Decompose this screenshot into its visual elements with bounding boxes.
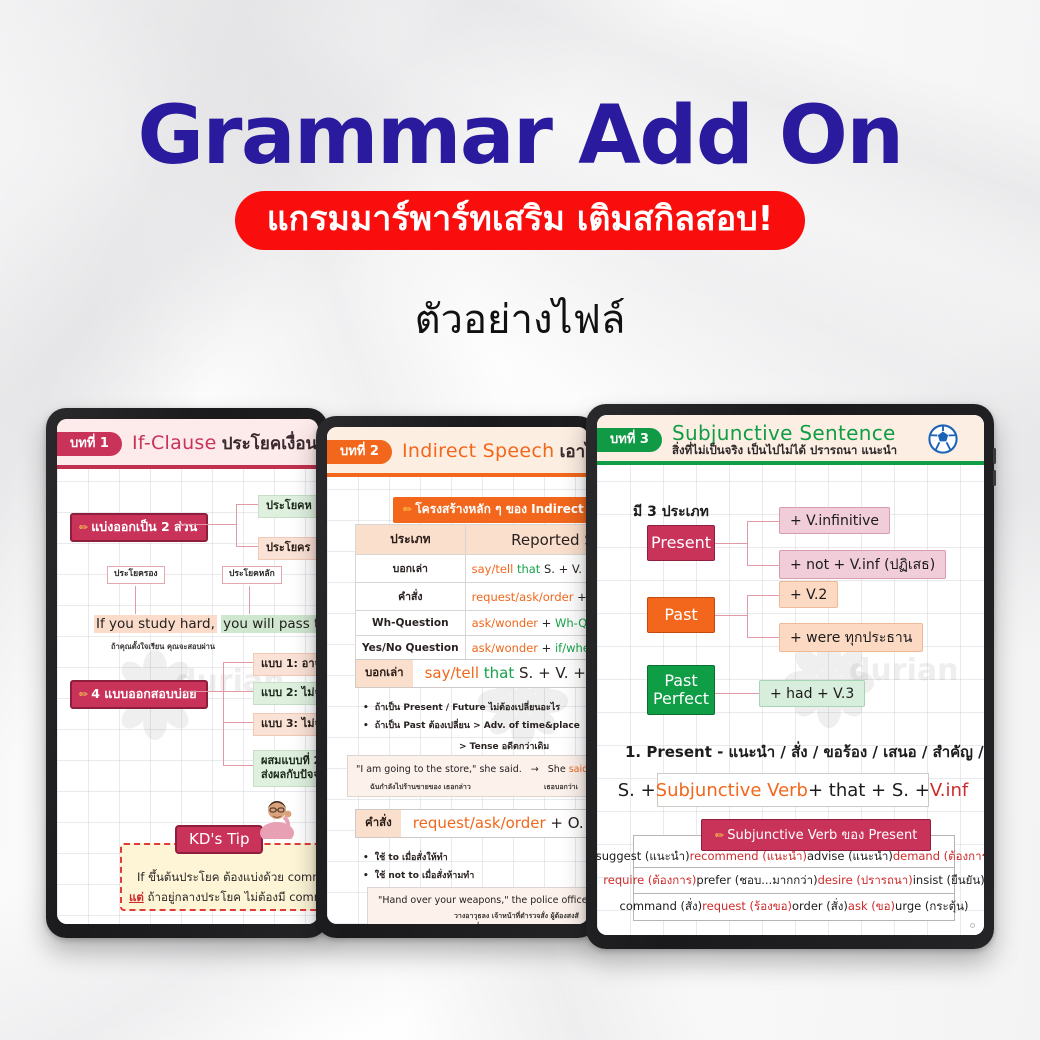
sheet-header-2: บทที่ 2 Indirect Speech เอาไป (327, 427, 588, 477)
branch-box-2: ประโยคร (258, 537, 318, 560)
sheet-header-3: บทที่ 3 Subjunctive Sentence สิ่งที่ไม่เ… (597, 415, 984, 465)
section-2-bullet-1: ใช้ to เมื่อสั่งให้ทำ (363, 850, 448, 864)
formula-seg-1: S. + (618, 780, 656, 801)
connector-pattern-4 (223, 765, 253, 766)
tablet-device-3: durian บทที่ 3 Subjunctive Sentence สิ่ง… (586, 404, 994, 949)
pattern-box-1: แบบ 1: อาจเกิ (253, 653, 318, 676)
section-1-example-th-1: ฉันกำลังไปร้านขายของ เธอกล่าว (370, 782, 471, 793)
table-cell-formula: say/tell that S. + V. + O. (465, 555, 588, 583)
leaf-present-2: + not + V.inf (ปฏิเสธ) (779, 550, 946, 579)
connector-past-up (747, 595, 779, 596)
header-rule-1 (57, 465, 318, 469)
volume-down-button[interactable] (993, 470, 996, 486)
section-2-example-en-1: "Hand over your weapons," the police off… (378, 895, 588, 906)
section-1-bullet-3: > Tense อดีตกว่าเดิม (459, 739, 549, 753)
section-2-formula: request/ask/order + O. + to/no (401, 810, 588, 837)
page-title: Grammar Add On (0, 96, 1040, 177)
connector-sub-vert (135, 586, 136, 614)
subjunctive-verb-header-text: Subjunctive Verb ของ Present (727, 828, 917, 843)
sheet-title-3: Subjunctive Sentence สิ่งที่ไม่เป็นจริง … (672, 423, 897, 456)
leaf-past-2: + were ทุกประธาน (779, 623, 923, 652)
patterns-label-box: ✏4 แบบออกสอบบ่อย (70, 680, 208, 709)
connector-past-down (747, 637, 779, 638)
table-body: บอกเล่า say/tell that S. + V. + O. คำสั่… (356, 555, 589, 661)
verb-seg: order (สั่ง) (792, 898, 848, 916)
present-usage-line: 1. Present - แนะนำ / สั่ง / ขอร้อง / เสน… (625, 740, 984, 764)
section-1-formula: say/tell that S. + V. + O. (413, 660, 588, 687)
tablet-device-2: บทที่ 2 Indirect Speech เอาไป ✏โครงสร้าง… (316, 416, 598, 938)
pencil-icon: ✏ (79, 521, 88, 534)
pencil-icon: ✏ (715, 829, 724, 842)
sheet-title-en-1: If-Clause (132, 432, 217, 454)
header-rule-2 (327, 473, 588, 477)
chapter-badge-2: บทที่ 2 (327, 440, 392, 465)
pattern-box-4-line-2: ส่งผลกับปัจจุบ (261, 768, 318, 781)
leaf-past-1: + V.2 (779, 581, 838, 608)
section-1-example-th-2: เธอบอกว่าเ (544, 782, 578, 793)
connector-present-vert (747, 521, 748, 565)
split-label-text: แบ่งออกเป็น 2 ส่วน (91, 519, 197, 534)
subtitle-pill-wrap: แกรมมาร์พาร์ทเสริม เติมสกิลสอบ! (0, 191, 1040, 250)
pencil-icon: ✏ (79, 688, 88, 701)
table-row: บอกเล่า say/tell that S. + V. + O. (356, 555, 589, 583)
section-1-row: บอกเล่า say/tell that S. + V. + O. (355, 659, 588, 688)
tag-subordinate: ประโยครอง (107, 566, 165, 584)
verb-seg: prefer (ชอบ...มากกว่า) (696, 872, 817, 890)
header: Grammar Add On แกรมมาร์พาร์ทเสริม เติมสก… (0, 0, 1040, 344)
durian-text-watermark: durian (849, 653, 959, 688)
connector-split-vert (236, 504, 237, 546)
sheet-title-1: If-Clause ประโยคเงื่อน (132, 434, 317, 454)
pencil-icon: ✏ (403, 503, 412, 516)
pattern-box-2: แบบ 2: ไม่จริ (253, 682, 318, 705)
kd-tip-title: KD's Tip (175, 825, 263, 854)
formula-seg-4: V.inf (930, 780, 968, 801)
sheet-subtitle-3: สิ่งที่ไม่เป็นจริง เป็นไปไม่ได้ ปรารถนา … (672, 444, 897, 456)
node-past: Past (647, 597, 715, 633)
tablet-screen-1: durian บทที่ 1 If-Clause ประโยคเงื่อน ✏แ… (57, 419, 318, 924)
table-cell-formula: ask/wonder + Wh-Question + (465, 611, 588, 636)
file-sample-label: ตัวอย่างไฟล์ (0, 296, 1040, 344)
sheet-header-1: บทที่ 1 If-Clause ประโยคเงื่อน (57, 419, 318, 469)
structure-banner-text: โครงสร้างหลัก ๆ ของ Indirect (415, 502, 584, 516)
kd-tip-line-2: แต่ ถ้าอยู่กลางประโยค ไม่ต้องมี comm (129, 889, 318, 907)
table-row: Yes/No Question ask/wonder + if/whether … (356, 636, 589, 661)
verb-seg: urge (กระตุ้น) (895, 898, 968, 916)
connector-present-up (747, 521, 779, 522)
tablet-screen-3: durian บทที่ 3 Subjunctive Sentence สิ่ง… (597, 415, 984, 935)
chapter-badge-1: บทที่ 1 (57, 432, 122, 457)
sheet-title-en-2: Indirect Speech (402, 440, 555, 462)
patterns-label-text: 4 แบบออกสอบบ่อย (91, 686, 196, 701)
section-2-bullet-2: ใช้ not to เมื่อสั่งห้ามทำ (363, 868, 474, 882)
tablet-device-1: durian บทที่ 1 If-Clause ประโยคเงื่อน ✏แ… (46, 408, 328, 938)
mascot-illustration (257, 795, 297, 839)
tablet-showcase: durian บทที่ 1 If-Clause ประโยคเงื่อน ✏แ… (0, 404, 1040, 949)
sheet-title-th-1: ประโยคเงื่อน (222, 434, 317, 454)
table-cell-type: Wh-Question (356, 611, 466, 636)
arrow-icon: → (531, 764, 539, 775)
types-count-label: มี 3 ประเภท (633, 501, 709, 523)
section-1-example-box: "I am going to the store," she said. → S… (347, 755, 588, 797)
verb-seg: require (ต้องการ) (603, 872, 696, 890)
connector-pattern-3 (223, 722, 253, 723)
formula-seg-2: Subjunctive Verb (656, 780, 808, 801)
structure-banner: ✏โครงสร้างหลัก ๆ ของ Indirect (393, 497, 588, 523)
tablet-screen-2: บทที่ 2 Indirect Speech เอาไป ✏โครงสร้าง… (327, 427, 588, 924)
subtitle-badge: แกรมมาร์พาร์ทเสริม เติมสกิลสอบ! (235, 191, 806, 250)
verb-seg: request (ร้องขอ) (702, 898, 792, 916)
connector-pattern-trunk (185, 691, 223, 692)
example-quote-1: "I am going to the store," she said. (356, 764, 522, 775)
leaf-present-1: + V.infinitive (779, 507, 890, 534)
connector-split-up (236, 504, 258, 505)
tag-main: ประโยคหลัก (222, 566, 282, 584)
section-2-example-box: "Hand over your weapons," the police off… (367, 887, 588, 924)
table-cell-type: บอกเล่า (356, 555, 466, 583)
table-col-type: ประเภท (356, 525, 466, 555)
table-cell-type: Yes/No Question (356, 636, 466, 661)
connector-past-trunk (715, 615, 747, 616)
node-past-perfect: Past Perfect (647, 665, 715, 715)
formula-seg-3: + that + S. + (808, 780, 930, 801)
kd-tip-emphasis: แต่ (129, 890, 144, 904)
connector-split-down (236, 546, 258, 547)
table-row: คำสั่ง request/ask/order + to/no (356, 583, 589, 611)
volume-up-button[interactable] (993, 448, 996, 464)
section-1-example-en: "I am going to the store," she said. → S… (356, 764, 588, 775)
worksheet-page-1: durian บทที่ 1 If-Clause ประโยคเงื่อน ✏แ… (57, 419, 318, 924)
subjunctive-verb-header: ✏Subjunctive Verb ของ Present (701, 819, 931, 851)
verb-row-3: command (สั่ง) request (ร้องขอ) order (ส… (634, 894, 954, 920)
node-present: Present (647, 525, 715, 561)
sheet-title-th-2: เอาไป (560, 442, 588, 462)
verb-seg: desire (ปรารถนา) (818, 872, 913, 890)
table-cell-formula: request/ask/order + to/no (465, 583, 588, 611)
branch-box-1: ประโยคห (258, 495, 318, 518)
sheet-title-2: Indirect Speech เอาไป (402, 442, 588, 462)
connector-past-vert (747, 595, 748, 637)
section-2-row: คำสั่ง request/ask/order + O. + to/no (355, 809, 588, 838)
sentence-clause-a: If you study hard, (94, 615, 217, 633)
split-label-box: ✏แบ่งออกเป็น 2 ส่วน (70, 513, 208, 542)
example-gloss-1: ถ้าคุณตั้งใจเรียน คุณจะสอบผ่าน (111, 641, 215, 653)
pattern-box-3: แบบ 3: ไม่จริง (253, 713, 318, 736)
kd-tip-line-1: If ขึ้นต้นประโยค ต้องแบ่งด้วย comm (137, 869, 318, 887)
section-1-bullet-1: ถ้าเป็น Present / Future ไม่ต้องเปลี่ยนอ… (363, 700, 560, 714)
connector-pattern-1 (223, 662, 253, 663)
section-1-label: บอกเล่า (356, 660, 413, 687)
section-1-bullet-2: ถ้าเป็น Past ต้องเปลี่ยน > Adv. of time&… (363, 718, 580, 732)
connector-present-trunk (715, 543, 747, 544)
soccer-ball-icon (928, 424, 958, 459)
camera-dot-icon (970, 923, 975, 928)
leaf-past-perfect-1: + had + V.3 (759, 680, 865, 707)
connector-pastperfect-trunk (715, 693, 759, 694)
connector-pattern-vert (223, 662, 224, 765)
section-2-example-th-1: วางอาวุธลง เจ้าหน้าที่ตำรวจสั่ง ผู้ต้องส… (454, 911, 579, 922)
worksheet-page-2: บทที่ 2 Indirect Speech เอาไป ✏โครงสร้าง… (327, 427, 588, 924)
connector-main-vert (249, 586, 250, 614)
verb-row-2: require (ต้องการ) prefer (ชอบ...มากกว่า)… (634, 868, 954, 894)
table-col-reported: Reported Sp (465, 525, 588, 555)
sentence-clause-b: you will pass th (221, 615, 318, 633)
down-arrow-icon: ↓ (474, 921, 482, 924)
pattern-box-4-line-1: ผสมแบบที่ 2 (261, 754, 318, 767)
subjunctive-formula-box: S. + Subjunctive Verb + that + S. + V.in… (657, 773, 929, 807)
example-result-a: She (548, 764, 569, 775)
header-rule-3 (597, 461, 984, 465)
verb-seg: insist (ยืนยัน) (913, 872, 984, 890)
table-header-row: ประเภท Reported Sp (356, 525, 589, 555)
connector-split-trunk (180, 524, 236, 525)
verb-seg: ask (ขอ) (848, 898, 895, 916)
verb-seg: suggest (แนะนำ) (597, 848, 690, 866)
pattern-box-4: ผสมแบบที่ 2 ส่งผลกับปัจจุบ (253, 750, 318, 787)
reported-speech-table: ประเภท Reported Sp บอกเล่า say/tell that… (355, 524, 588, 661)
worksheet-page-3: durian บทที่ 3 Subjunctive Sentence สิ่ง… (597, 415, 984, 935)
connector-present-down (747, 565, 779, 566)
verb-seg: command (สั่ง) (620, 898, 703, 916)
table-cell-formula: ask/wonder + if/whether + (465, 636, 588, 661)
section-2-label: คำสั่ง (356, 810, 401, 837)
example-sentence-1: If you study hard, you will pass th (94, 616, 318, 632)
table-row: Wh-Question ask/wonder + Wh-Question + (356, 611, 589, 636)
table-cell-type: คำสั่ง (356, 583, 466, 611)
sheet-title-en-3: Subjunctive Sentence (672, 423, 897, 444)
chapter-badge-3: บทที่ 3 (597, 428, 662, 453)
connector-pattern-2 (223, 691, 253, 692)
kd-tip-line-2-text: ถ้าอยู่กลางประโยค ไม่ต้องมี comm (148, 890, 318, 904)
